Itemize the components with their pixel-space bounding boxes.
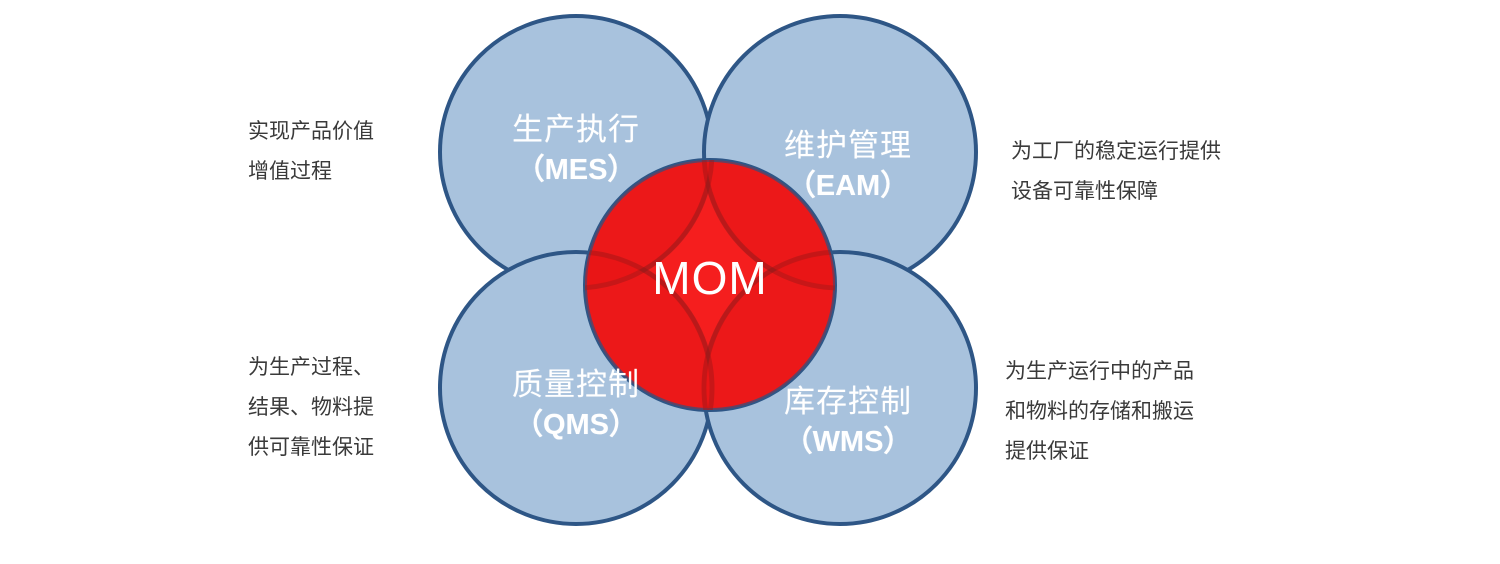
circle-label-qms-en: （QMS） [486, 407, 666, 445]
annotation-bottom-right-line-2: 和物料的存储和搬运 [1005, 392, 1194, 432]
annotation-top-right-line-1: 为工厂的稳定运行提供 [1011, 132, 1221, 172]
center-label-mom: MOM [600, 255, 820, 301]
annotation-bottom-right: 为生产运行中的产品 和物料的存储和搬运 提供保证 [1005, 352, 1194, 472]
circle-label-wms: 库存控制 （WMS） [758, 382, 938, 462]
circle-label-wms-en: （WMS） [758, 424, 938, 462]
annotation-bottom-left-line-3: 供可靠性保证 [248, 428, 374, 468]
circle-label-qms-cn: 质量控制 [486, 365, 666, 405]
annotation-top-left-line-2: 增值过程 [248, 152, 374, 192]
circle-label-mes: 生产执行 （MES） [486, 110, 666, 190]
annotation-bottom-left-line-1: 为生产过程、 [248, 348, 374, 388]
circle-label-qms: 质量控制 （QMS） [486, 365, 666, 445]
annotation-top-right: 为工厂的稳定运行提供 设备可靠性保障 [1011, 132, 1221, 212]
diagram-canvas: 生产执行 （MES） 维护管理 （EAM） 质量控制 （QMS） 库存控制 （W… [0, 0, 1500, 564]
circle-label-eam: 维护管理 （EAM） [758, 126, 938, 206]
annotation-bottom-right-line-3: 提供保证 [1005, 432, 1194, 472]
circle-label-eam-en: （EAM） [758, 168, 938, 206]
annotation-top-left: 实现产品价值 增值过程 [248, 112, 374, 192]
annotation-top-left-line-1: 实现产品价值 [248, 112, 374, 152]
annotation-top-right-line-2: 设备可靠性保障 [1011, 172, 1221, 212]
circle-label-wms-cn: 库存控制 [758, 382, 938, 422]
circle-label-eam-cn: 维护管理 [758, 126, 938, 166]
annotation-bottom-right-line-1: 为生产运行中的产品 [1005, 352, 1194, 392]
annotation-bottom-left: 为生产过程、 结果、物料提 供可靠性保证 [248, 348, 374, 468]
annotation-bottom-left-line-2: 结果、物料提 [248, 388, 374, 428]
circle-label-mes-cn: 生产执行 [486, 110, 666, 150]
circle-label-mes-en: （MES） [486, 152, 666, 190]
